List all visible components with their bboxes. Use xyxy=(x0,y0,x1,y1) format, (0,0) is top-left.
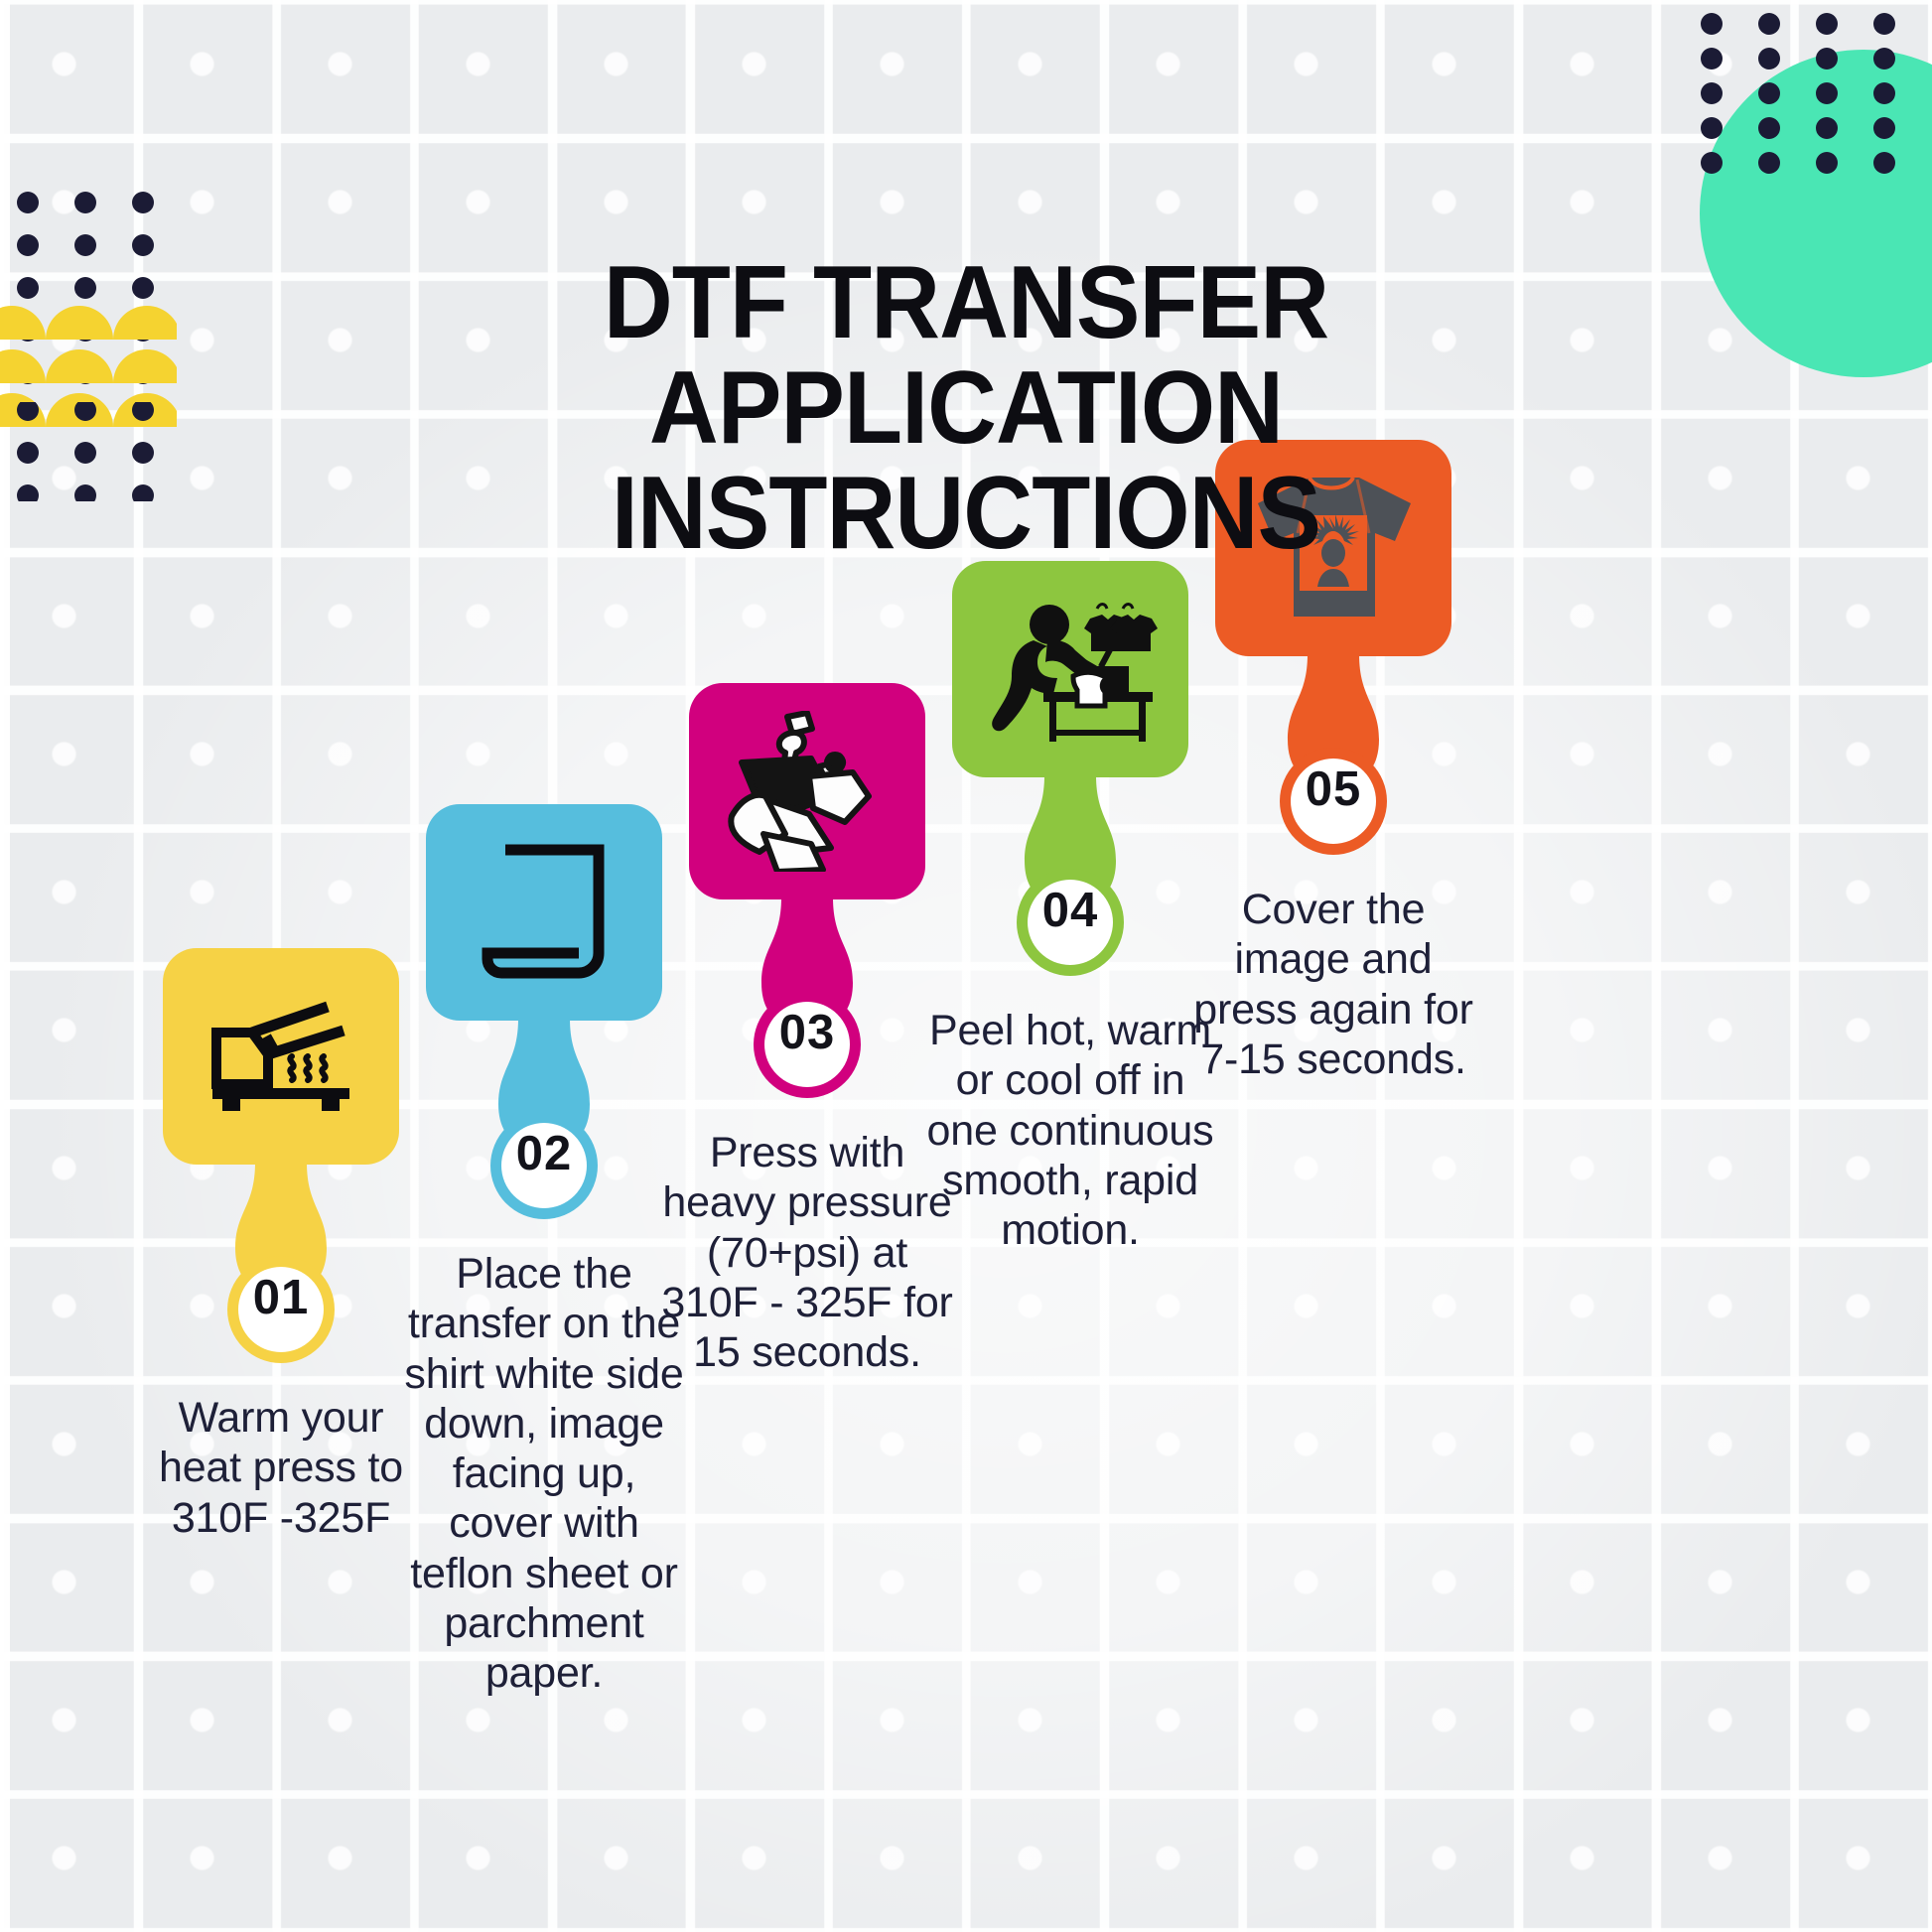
step-02-icon-card[interactable] xyxy=(426,804,662,1021)
step-01-connector: 01 xyxy=(192,1163,370,1373)
worker-peeling-transfer-icon xyxy=(978,595,1163,744)
step-04-connector: 04 xyxy=(981,775,1160,986)
page-title-line-2: INSTRUCTIONS xyxy=(280,461,1652,566)
step-05-caption: Cover the image and press again for 7-15… xyxy=(1184,885,1482,1084)
step-01-number: 01 xyxy=(192,1274,370,1322)
step-02-number: 02 xyxy=(455,1130,633,1178)
step-05-number: 05 xyxy=(1244,765,1423,814)
heat-press-machine-icon xyxy=(724,711,891,872)
infographic-canvas: DTF TRANSFER APPLICATION INSTRUCTIONS xyxy=(0,0,1932,1932)
step-04-number: 04 xyxy=(981,887,1160,935)
page-title-line-1: DTF TRANSFER APPLICATION xyxy=(604,245,1328,466)
transfer-sheet-icon xyxy=(476,842,613,983)
step-03-number: 03 xyxy=(718,1009,897,1057)
page-title: DTF TRANSFER APPLICATION INSTRUCTIONS xyxy=(68,250,1864,566)
step-03-icon-card[interactable] xyxy=(689,683,925,899)
step-02-connector: 02 xyxy=(455,1019,633,1229)
heat-press-open-icon xyxy=(207,993,355,1120)
step-05-connector: 05 xyxy=(1244,654,1423,865)
step-04-icon-card[interactable] xyxy=(952,561,1188,777)
step-03-connector: 03 xyxy=(718,897,897,1108)
step-01-icon-card[interactable] xyxy=(163,948,399,1165)
